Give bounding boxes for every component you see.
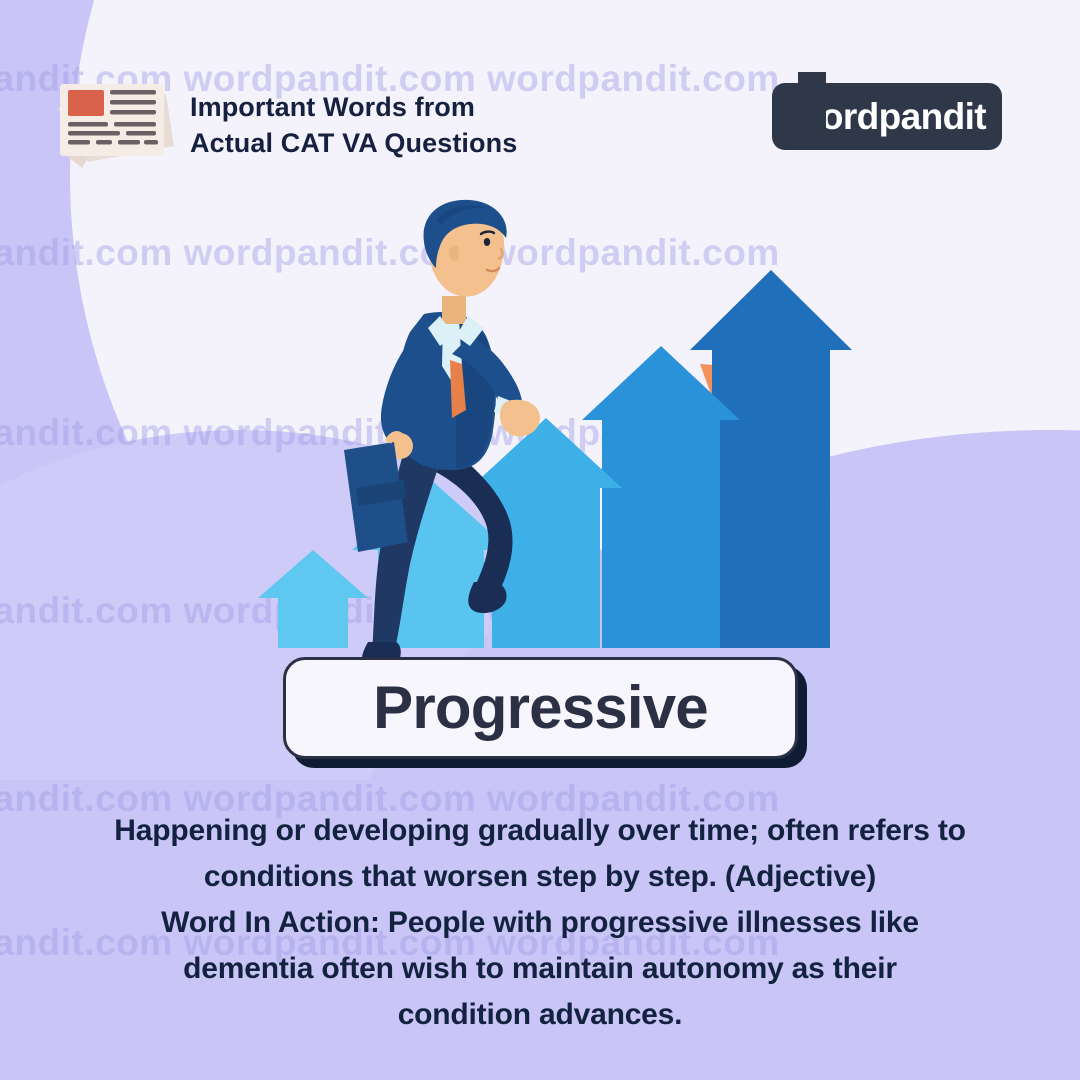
bookmark-w-icon [794, 72, 830, 150]
brand-logo-text: ordpandit [821, 98, 986, 135]
definition-line: Happening or developing gradually over t… [20, 808, 1060, 854]
word-in-action-line: Word In Action: People with progressive … [20, 900, 1060, 946]
word-card: Progressive [283, 657, 798, 759]
arrow-step-1 [258, 550, 368, 648]
word-in-action-line: condition advances. [20, 992, 1060, 1038]
illustration-businessman-climbing-arrows [0, 150, 1080, 670]
page-title-line1: Important Words from [190, 92, 475, 122]
brand-logo[interactable]: ordpandit [772, 83, 1002, 150]
word-in-action-line: dementia often wish to maintain autonomy… [20, 946, 1060, 992]
word-card-body: Progressive [283, 657, 798, 759]
definition-line: conditions that worsen step by step. (Ad… [20, 854, 1060, 900]
definition-block: Happening or developing gradually over t… [20, 808, 1060, 1038]
word-of-the-day-poster: wordpandit.com wordpandit.com wordpandit… [0, 0, 1080, 1080]
vocabulary-word: Progressive [373, 678, 708, 738]
